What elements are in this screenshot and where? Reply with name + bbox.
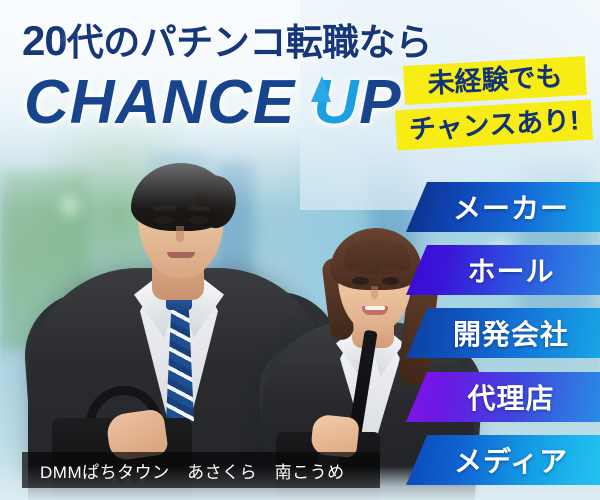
man-nose [176, 226, 184, 242]
category-button-maker[interactable]: メーカー [406, 182, 600, 232]
logo-word-chance: CHANCE [24, 68, 313, 137]
upward-arrow-icon [311, 76, 335, 102]
category-label-agency: 代理店 [451, 377, 554, 417]
chance-up-logo: CHANCE UP [24, 72, 402, 134]
category-label-media: メディア [438, 440, 568, 480]
woman-teeth [365, 306, 385, 310]
headline-number: 20 [22, 17, 67, 64]
man-eye-right [189, 216, 208, 224]
woman-nose [371, 286, 378, 299]
man-mouth [167, 252, 195, 258]
credit-text: DMMぱちタウン あさくら 南こうめ [40, 458, 345, 483]
headline-text: 代のパチンコ転職なら [67, 22, 432, 63]
category-label-developer: 開発会社 [437, 313, 569, 353]
category-label-hall: ホール [451, 250, 554, 290]
category-button-hall[interactable]: ホール [406, 245, 600, 295]
woman-eye-left [352, 277, 369, 285]
category-button-agency[interactable]: 代理店 [406, 372, 600, 422]
advertisement-banner[interactable]: 20代のパチンコ転職なら CHANCE UP 未経験でも チャンスあり! メーカ… [0, 0, 600, 500]
category-button-media[interactable]: メディア [406, 435, 600, 485]
headline: 20代のパチンコ転職なら [22, 20, 432, 62]
woman-eye-right [382, 277, 399, 285]
category-label-maker: メーカー [437, 187, 569, 227]
credit-bar: DMMぱちタウン あさくら 南こうめ [22, 452, 380, 488]
man-eye-left [155, 216, 174, 224]
category-button-developer[interactable]: 開発会社 [406, 308, 600, 358]
